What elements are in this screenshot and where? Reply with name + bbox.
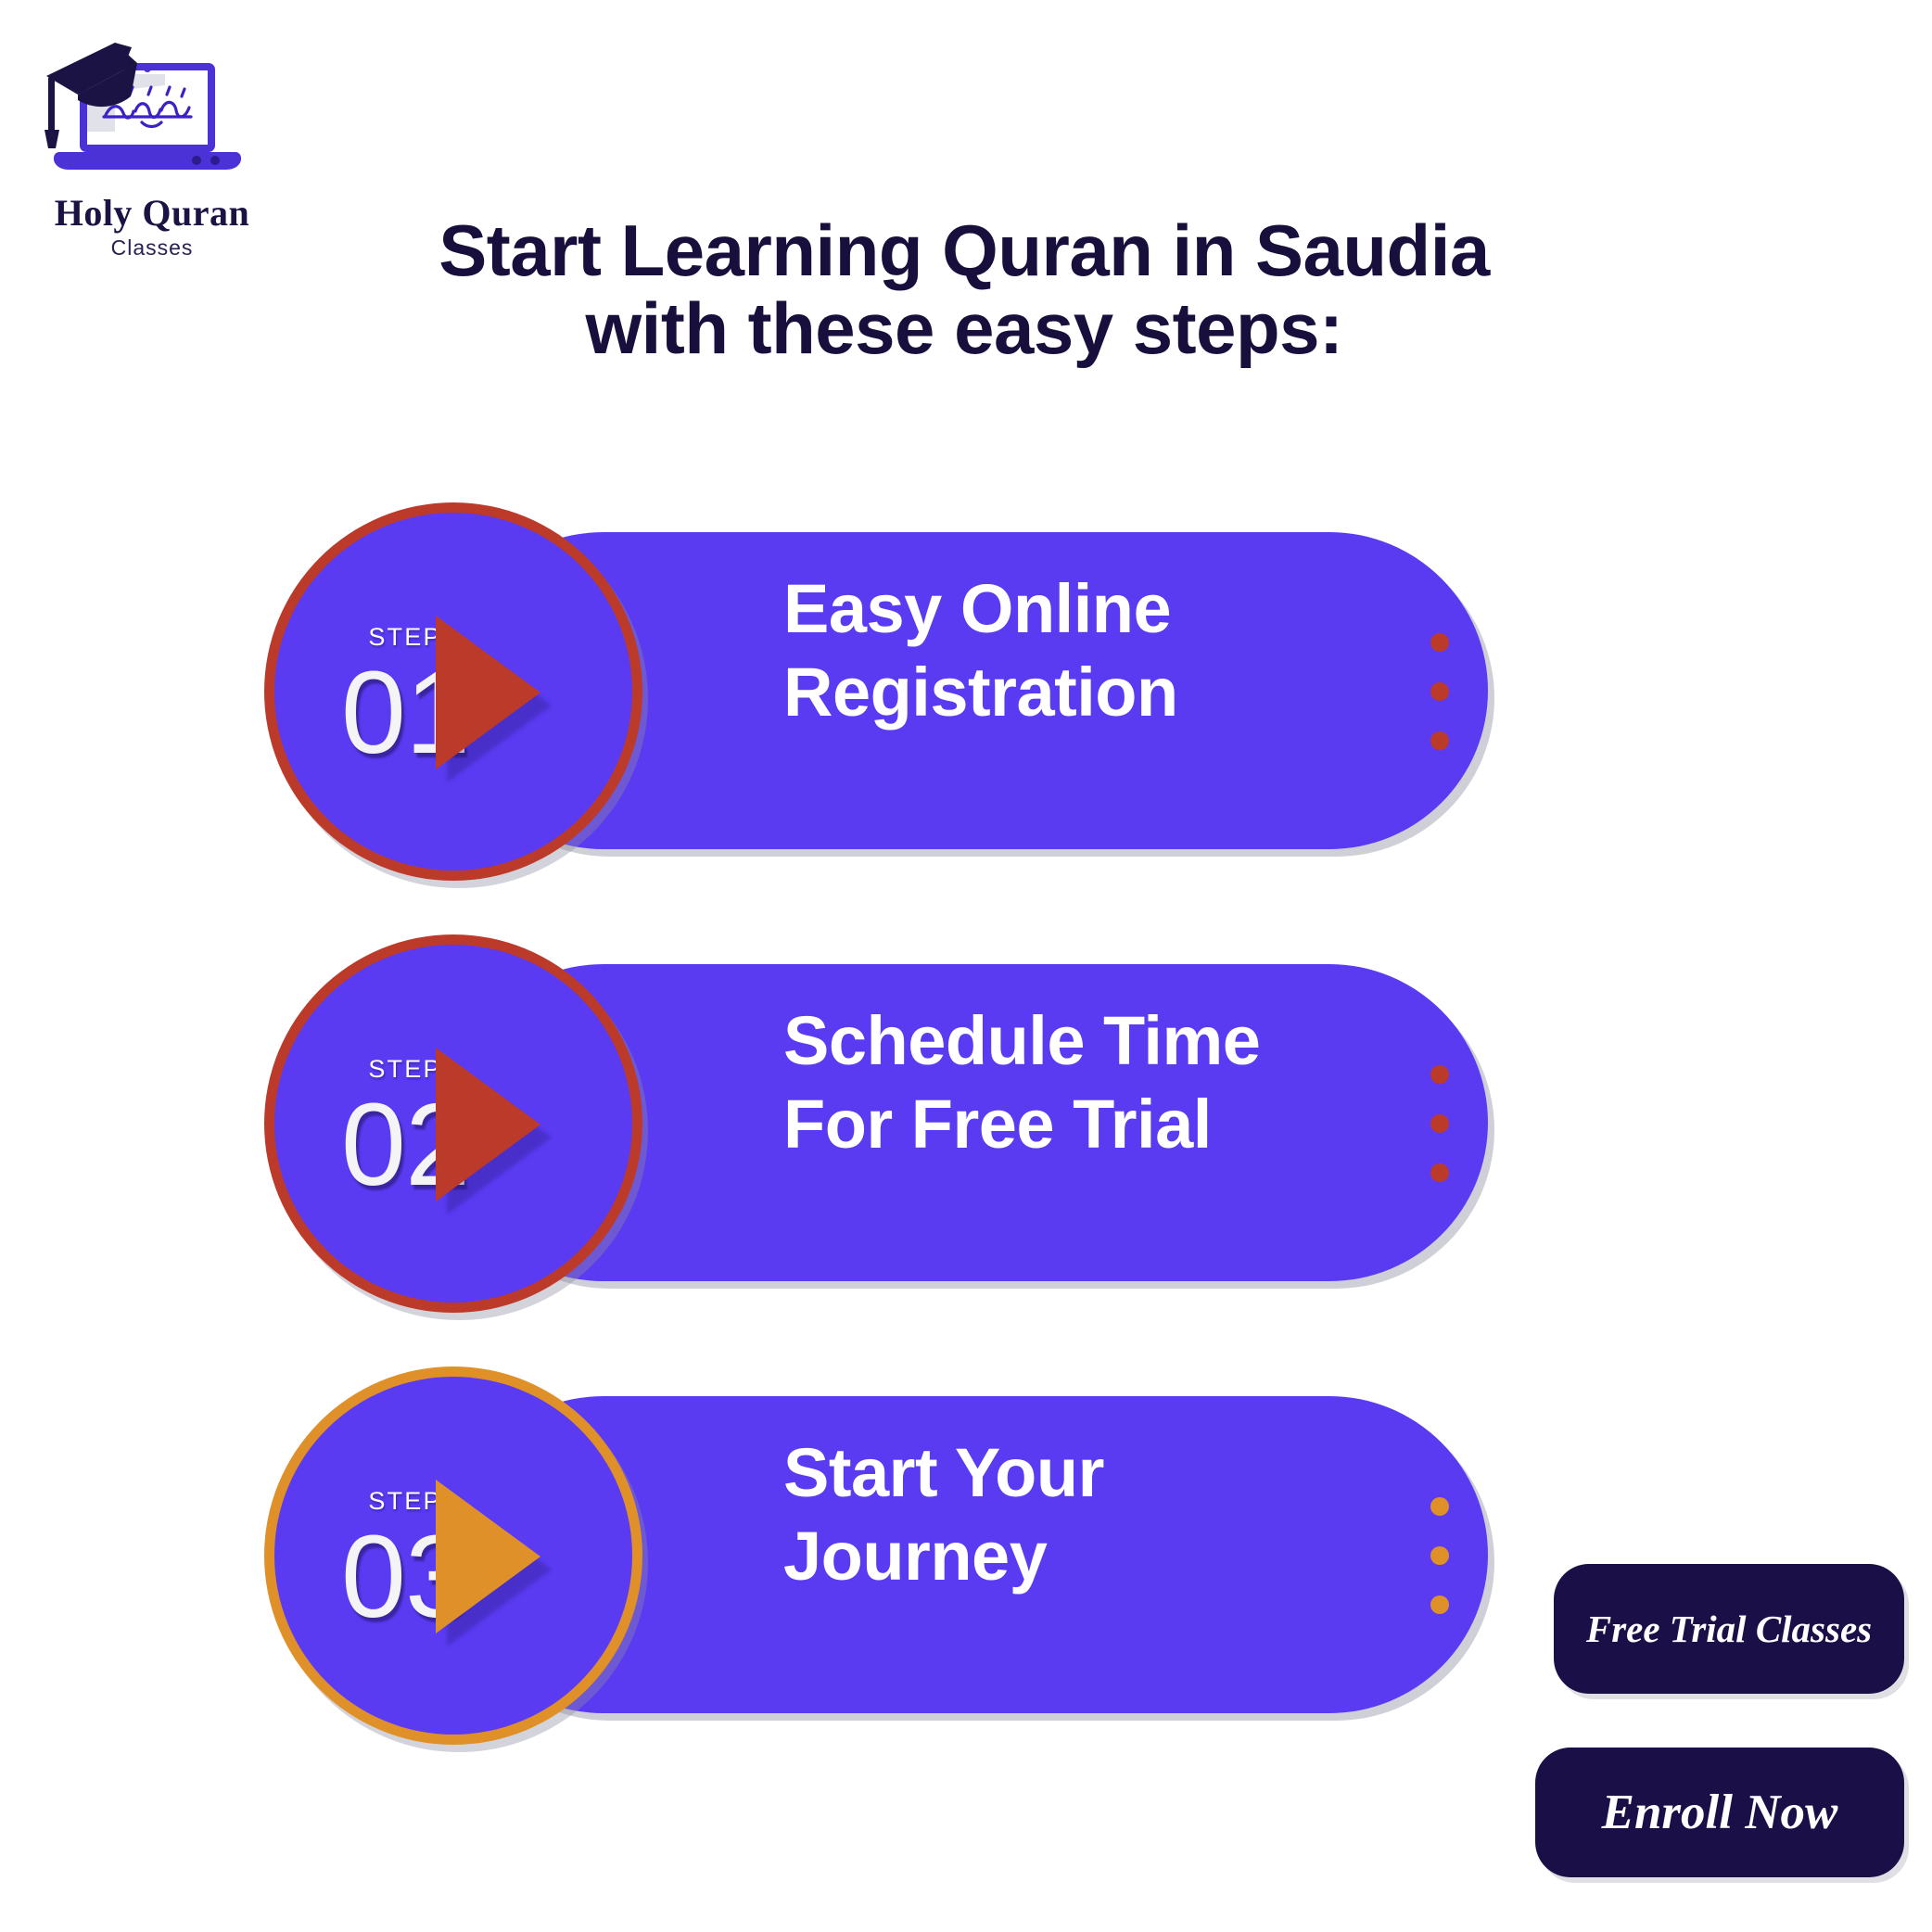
- brand-wordmark: Holy Quran: [26, 195, 278, 232]
- dot: [1430, 1065, 1449, 1084]
- step-title-line-2: For Free Trial: [783, 1083, 1432, 1166]
- step-title: Easy Online Registration: [783, 567, 1432, 735]
- step-title-line-1: Schedule Time: [783, 999, 1432, 1083]
- more-options-dots-icon[interactable]: [1428, 1497, 1452, 1614]
- play-triangle-icon: [436, 1048, 540, 1201]
- laptop-with-graduation-cap-icon: [26, 22, 278, 198]
- step-title-line-2: Journey: [783, 1515, 1432, 1598]
- dot: [1430, 1163, 1449, 1182]
- brand-subword: Classes: [26, 237, 278, 259]
- more-options-dots-icon[interactable]: [1428, 1065, 1452, 1182]
- step-title-line-1: Start Your: [783, 1431, 1432, 1515]
- step-title-line-2: Registration: [783, 651, 1432, 734]
- page-title-line-2: with these easy steps:: [306, 289, 1622, 367]
- dot: [1430, 1595, 1449, 1614]
- dot: [1430, 633, 1449, 652]
- dot: [1430, 1114, 1449, 1133]
- brand-logo: Holy Quran Classes: [26, 22, 278, 286]
- dot: [1430, 731, 1449, 750]
- step-card-3[interactable]: STEP 03 Start Your Journey: [264, 1366, 1511, 1756]
- play-triangle-icon: [436, 616, 540, 769]
- page-title: Start Learning Quran in Saudia with thes…: [306, 211, 1622, 367]
- step-card-1[interactable]: STEP 01 Easy Online Registration: [264, 502, 1511, 892]
- step-title: Schedule Time For Free Trial: [783, 999, 1432, 1167]
- play-triangle-icon: [436, 1480, 540, 1633]
- step-title: Start Your Journey: [783, 1431, 1432, 1599]
- page-title-line-1: Start Learning Quran in Saudia: [306, 211, 1622, 289]
- more-options-dots-icon[interactable]: [1428, 633, 1452, 750]
- dot: [1430, 1546, 1449, 1565]
- free-trial-classes-button[interactable]: Free Trial Classes: [1554, 1564, 1904, 1694]
- step-title-line-1: Easy Online: [783, 567, 1432, 651]
- dot: [1430, 1497, 1449, 1516]
- step-card-2[interactable]: STEP 02 Schedule Time For Free Trial: [264, 934, 1511, 1324]
- enroll-now-button[interactable]: Enroll Now: [1535, 1748, 1904, 1877]
- dot: [1430, 682, 1449, 701]
